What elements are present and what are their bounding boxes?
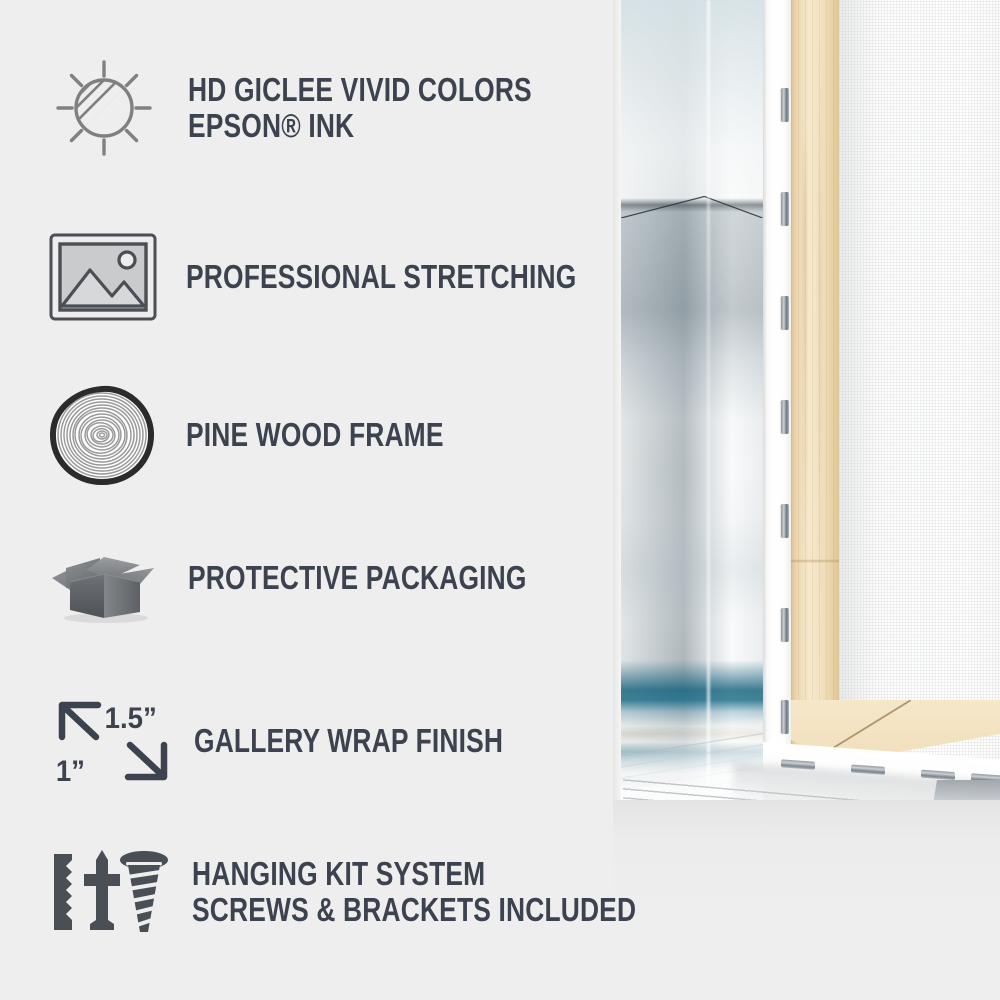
feature-item-protective-packaging: PROTECTIVE PACKAGING	[48, 532, 611, 624]
depth-arrows-icon: 1.5” 1”	[54, 695, 172, 787]
wrap-band-shadow	[763, 0, 767, 812]
infographic-canvas: HD GICLEE VIVID COLORS EPSON® INK PROFES…	[0, 0, 1000, 1000]
staple	[781, 700, 789, 734]
staple	[781, 400, 789, 434]
feature-list: HD GICLEE VIVID COLORS EPSON® INK PROFES…	[0, 0, 620, 1000]
feature-label-line: SCREWS & BRACKETS INCLUDED	[192, 892, 636, 928]
artwork-color-bands	[621, 0, 763, 805]
feature-label: PINE WOOD FRAME	[186, 417, 444, 453]
tree-rings-icon	[48, 385, 156, 485]
canvas-wrap-band	[763, 0, 791, 812]
wood-grain-line	[819, 40, 821, 660]
staple	[781, 88, 789, 122]
feature-label-line: EPSON® INK	[188, 108, 532, 144]
wood-joint-line	[791, 560, 839, 562]
canvas-back-weave	[839, 0, 1000, 800]
framed-picture-icon	[48, 232, 158, 322]
feature-item-pine-wood-frame: PINE WOOD FRAME	[48, 385, 508, 485]
sun-hatched-icon	[48, 52, 160, 164]
photo-body	[613, 0, 1000, 818]
feature-label-line: HANGING KIT SYSTEM	[192, 856, 636, 892]
feature-label-line: PROFESSIONAL STRETCHING	[186, 259, 576, 295]
feature-item-hd-giclee: HD GICLEE VIVID COLORS EPSON® INK	[48, 52, 618, 164]
depth-top-label: 1.5”	[105, 702, 157, 735]
feature-label-line: PINE WOOD FRAME	[186, 417, 444, 453]
depth-bottom-label: 1”	[56, 755, 85, 787]
feature-item-gallery-wrap: 1.5” 1” GALLERY WRAP FINISH	[48, 695, 580, 787]
printed-artwork-edge	[621, 0, 763, 805]
feature-label: HD GICLEE VIVID COLORS EPSON® INK	[188, 72, 532, 143]
feature-label: PROFESSIONAL STRETCHING	[186, 259, 576, 295]
staple	[781, 504, 789, 538]
feature-label: PROTECTIVE PACKAGING	[188, 560, 527, 596]
feature-label: HANGING KIT SYSTEM SCREWS & BRACKETS INC…	[192, 856, 636, 927]
staple	[781, 608, 789, 642]
staple	[781, 296, 789, 330]
staple	[781, 192, 789, 226]
feature-label-line: GALLERY WRAP FINISH	[194, 723, 503, 759]
canvas-back-shading	[839, 0, 875, 800]
feature-label-line: PROTECTIVE PACKAGING	[188, 560, 527, 596]
feature-label: GALLERY WRAP FINISH	[194, 723, 503, 759]
artwork-top-edge-line	[621, 196, 763, 218]
feature-label-line: HD GICLEE VIVID COLORS	[188, 72, 532, 108]
artwork-corner-fold	[707, 0, 710, 805]
feature-item-professional-stretching: PROFESSIONAL STRETCHING	[48, 232, 674, 322]
feature-item-hanging-kit: HANGING KIT SYSTEM SCREWS & BRACKETS INC…	[48, 848, 747, 936]
pine-stretcher-bar	[791, 0, 839, 790]
wood-grain-line	[803, 120, 806, 550]
open-box-icon	[48, 532, 160, 624]
hanging-hardware-icon	[48, 848, 170, 936]
